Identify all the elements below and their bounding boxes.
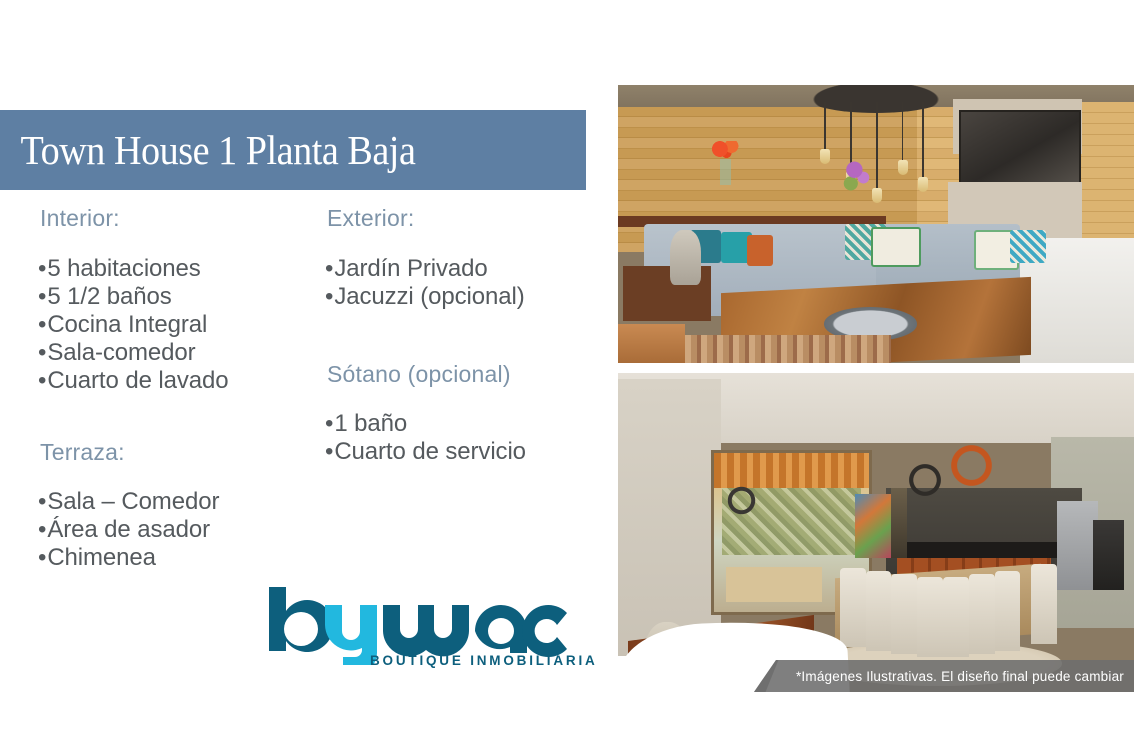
bullet-icon: • <box>325 410 333 438</box>
bullet-icon: • <box>325 438 333 466</box>
group-heading-exterior: Exterior: <box>327 205 595 233</box>
features-column-left: Interior: • 5 habitaciones • 5 1/2 baños… <box>38 205 328 576</box>
list-item-label: Sala-comedor <box>47 339 195 367</box>
throw-pillow <box>1010 230 1046 263</box>
feature-group-sotano: Sótano (opcional) • 1 baño • Cuarto de s… <box>325 361 595 467</box>
bullet-icon: • <box>38 544 46 572</box>
slide-title-bar: Town House 1 Planta Baja <box>0 110 586 190</box>
list-item: • 5 habitaciones <box>38 255 328 283</box>
bullet-icon: • <box>38 339 46 367</box>
refrigerator <box>1057 501 1098 590</box>
list-item: • Área de asador <box>38 516 328 544</box>
list-item: • Sala – Comedor <box>38 488 328 516</box>
list-item-label: Chimenea <box>47 544 156 572</box>
globe-pendant-light <box>726 481 757 519</box>
list-item-label: Área de asador <box>47 516 210 544</box>
wall-artwork-secondary <box>891 488 906 558</box>
list-item-label: Jacuzzi (opcional) <box>334 283 524 311</box>
list-item: • Chimenea <box>38 544 328 572</box>
dining-chair <box>1031 564 1057 644</box>
feature-list-exterior: • Jardín Privado • Jacuzzi (opcional) <box>325 255 595 311</box>
column-spacer <box>38 399 328 439</box>
bullet-icon: • <box>38 255 46 283</box>
pendant-bulb-icon <box>898 160 908 175</box>
pendant-cord <box>922 102 924 180</box>
dining-chair <box>891 574 917 654</box>
pendant-cord <box>876 102 878 191</box>
bullet-icon: • <box>38 311 46 339</box>
dining-room-photo: *Imágenes Ilustrativas. El diseño final … <box>618 373 1134 692</box>
pendant-cord <box>902 102 904 163</box>
list-item: • Jacuzzi (opcional) <box>325 283 595 311</box>
dining-room-photo-content: *Imágenes Ilustrativas. El diseño final … <box>618 373 1134 692</box>
feature-group-interior: Interior: • 5 habitaciones • 5 1/2 baños… <box>38 205 328 395</box>
list-item-label: Cocina Integral <box>47 311 207 339</box>
feature-group-exterior: Exterior: • Jardín Privado • Jacuzzi (op… <box>325 205 595 311</box>
list-item: • Sala-comedor <box>38 339 328 367</box>
globe-pendant-light <box>907 456 943 504</box>
column-spacer <box>325 315 595 361</box>
dining-chair <box>969 574 995 654</box>
list-item-label: 1 baño <box>334 410 407 438</box>
group-heading-sotano: Sótano (opcional) <box>327 361 595 389</box>
orange-flower-vase <box>706 141 747 185</box>
pendant-bulb-icon <box>918 177 928 192</box>
purple-orchid-vase <box>840 160 876 199</box>
bullet-icon: • <box>325 255 333 283</box>
elephant-pillow <box>871 227 921 267</box>
outdoor-dining-table <box>726 567 822 602</box>
list-item-label: 5 habitaciones <box>47 255 200 283</box>
throw-pillow <box>747 235 773 266</box>
list-item: • Cuarto de lavado <box>38 367 328 395</box>
bywac-logo: BOUTIQUE INMOBILIARIA <box>265 585 570 685</box>
living-room-photo-content <box>618 85 1134 363</box>
dining-chair <box>917 577 943 657</box>
feature-list-interior: • 5 habitaciones • 5 1/2 baños • Cocina … <box>38 255 328 395</box>
bullet-icon: • <box>38 367 46 395</box>
bullet-icon: • <box>38 516 46 544</box>
features-column-right: Exterior: • Jardín Privado • Jacuzzi (op… <box>325 205 595 470</box>
list-item: • Jardín Privado <box>325 255 595 283</box>
list-item-label: Cuarto de lavado <box>47 367 228 395</box>
list-item: • 1 baño <box>325 410 595 438</box>
slide-canvas: Town House 1 Planta Baja Interior: • 5 h… <box>0 0 1134 756</box>
wall-artwork <box>855 494 891 558</box>
group-heading-interior: Interior: <box>40 205 328 233</box>
dining-chair <box>840 568 866 648</box>
corner-notch-fill <box>618 656 768 692</box>
list-item: • Cuarto de servicio <box>325 438 595 466</box>
bullet-icon: • <box>38 283 46 311</box>
list-item-label: Sala – Comedor <box>47 488 219 516</box>
kitchen-counter <box>886 542 1082 558</box>
list-item-label: 5 1/2 baños <box>47 283 171 311</box>
pendant-bulb-icon <box>820 149 830 164</box>
list-item-label: Jardín Privado <box>334 255 487 283</box>
wall-oven <box>1093 520 1124 590</box>
bullet-icon: • <box>38 488 46 516</box>
dining-chair <box>866 571 892 651</box>
list-item-label: Cuarto de servicio <box>334 438 526 466</box>
globe-pendant-light <box>948 437 994 494</box>
list-item: • Cocina Integral <box>38 311 328 339</box>
dining-chair <box>943 577 969 657</box>
area-rug <box>659 335 891 363</box>
disclaimer-text: *Imágenes Ilustrativas. El diseño final … <box>796 669 1124 684</box>
leather-armchair <box>618 324 685 363</box>
features-columns: Interior: • 5 habitaciones • 5 1/2 baños… <box>0 205 600 605</box>
feature-group-terraza: Terraza: • Sala – Comedor • Área de asad… <box>38 439 328 573</box>
logo-tagline: BOUTIQUE INMOBILIARIA <box>370 653 598 668</box>
television-screen <box>959 110 1082 186</box>
bullet-icon: • <box>325 283 333 311</box>
pendant-cord <box>824 102 826 152</box>
feature-list-terraza: • Sala – Comedor • Área de asador • Chim… <box>38 488 328 572</box>
group-heading-terraza: Terraza: <box>40 439 328 467</box>
stone-statue <box>670 230 701 286</box>
living-room-photo <box>618 85 1134 363</box>
page-title: Town House 1 Planta Baja <box>0 126 415 174</box>
list-item: • 5 1/2 baños <box>38 283 328 311</box>
feature-list-sotano: • 1 baño • Cuarto de servicio <box>325 410 595 466</box>
disclaimer-banner: *Imágenes Ilustrativas. El diseño final … <box>754 660 1134 692</box>
dining-chair <box>995 571 1021 651</box>
